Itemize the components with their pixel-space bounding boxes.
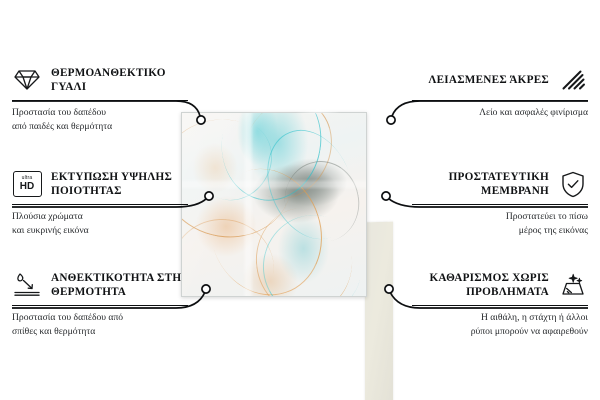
feature-description: Προστασία του δαπέδου από παιδές και θερ… bbox=[12, 106, 188, 133]
feature-easy-cleaning: ΚΑΘΑΡΙΣΜΟΣ ΧΩΡΙΣ ΠΡΟΒΛΗΜΑΤΑ Η αιθάλη, η … bbox=[412, 269, 588, 338]
feature-header: ΛΕΙΑΣΜΕΝΕΣ ΆΚΡΕΣ bbox=[412, 64, 588, 96]
feature-high-quality-print: ultra HD ΕΚΤΥΠΩΣΗ ΥΨΗΛΗΣ ΠΟΙΟΤΗΤΑΣ Πλούσ… bbox=[12, 168, 188, 237]
flame-deflect-icon bbox=[12, 270, 42, 300]
feature-header: ΑΝΘΕΚΤΙΚΟΤΗΤΑ ΣΤΗ ΘΕΡΜΟΤΗΤΑ bbox=[12, 269, 188, 301]
feature-header: ΠΡΟΣΤΑΤΕΥΤΙΚΗ ΜΕΜΒΡΑΝΗ bbox=[412, 168, 588, 200]
feature-description: Λείο και ασφαλές φινίρισμα bbox=[412, 106, 588, 120]
feature-protective-membrane: ΠΡΟΣΤΑΤΕΥΤΙΚΗ ΜΕΜΒΡΑΝΗ Προστατεύει το πί… bbox=[412, 168, 588, 237]
polished-edge-icon bbox=[558, 65, 588, 95]
diamond-icon bbox=[12, 65, 42, 95]
feature-divider bbox=[12, 100, 188, 101]
feature-title: ΕΚΤΥΠΩΣΗ ΥΨΗΛΗΣ ΠΟΙΟΤΗΤΑΣ bbox=[51, 170, 188, 199]
product-image bbox=[181, 110, 393, 300]
feature-divider bbox=[12, 204, 188, 205]
infographic-root: ΘΕΡΜΟΑΝΘΕΚΤΙΚΟ ΓΥΑΛΙ Προστασία του δαπέδ… bbox=[0, 0, 600, 400]
feature-title: ΚΑΘΑΡΙΣΜΟΣ ΧΩΡΙΣ ΠΡΟΒΛΗΜΑΤΑ bbox=[412, 271, 549, 300]
feature-heat-resistant-glass: ΘΕΡΜΟΑΝΘΕΚΤΙΚΟ ΓΥΑΛΙ Προστασία του δαπέδ… bbox=[12, 64, 188, 133]
feature-heat-durability: ΑΝΘΕΚΤΙΚΟΤΗΤΑ ΣΤΗ ΘΕΡΜΟΤΗΤΑ Προστασία το… bbox=[12, 269, 188, 338]
feature-divider bbox=[412, 100, 588, 101]
feature-title: ΠΡΟΣΤΑΤΕΥΤΙΚΗ ΜΕΜΒΡΑΝΗ bbox=[412, 170, 549, 199]
feature-description: Προστασία του δαπέδου από σπίθες και θερ… bbox=[12, 311, 188, 338]
feature-header: ΘΕΡΜΟΑΝΘΕΚΤΙΚΟ ΓΥΑΛΙ bbox=[12, 64, 188, 96]
shield-check-icon bbox=[558, 169, 588, 199]
feature-divider bbox=[12, 305, 188, 306]
product-side-panel bbox=[365, 222, 393, 400]
feature-title: ΛΕΙΑΣΜΕΝΕΣ ΆΚΡΕΣ bbox=[428, 73, 549, 87]
ultra-hd-badge-icon: ultra HD bbox=[12, 169, 42, 199]
feature-divider bbox=[412, 204, 588, 205]
feature-header: ultra HD ΕΚΤΥΠΩΣΗ ΥΨΗΛΗΣ ΠΟΙΟΤΗΤΑΣ bbox=[12, 168, 188, 200]
sparkle-clean-icon bbox=[558, 270, 588, 300]
ultra-hd-main-label: HD bbox=[20, 182, 34, 192]
glass-panel bbox=[181, 112, 367, 297]
feature-polished-edges: ΛΕΙΑΣΜΕΝΕΣ ΆΚΡΕΣ Λείο και ασφαλές φινίρι… bbox=[412, 64, 588, 120]
feature-description: Πλούσια χρώματα και ευκρινής εικόνα bbox=[12, 210, 188, 237]
feature-description: Προστατεύει το πίσω μέρος της εικόνας bbox=[412, 210, 588, 237]
artwork-abstract-marble bbox=[182, 113, 366, 296]
feature-description: Η αιθάλη, η στάχτη ή άλλοι ρύποι μπορούν… bbox=[412, 311, 588, 338]
feature-header: ΚΑΘΑΡΙΣΜΟΣ ΧΩΡΙΣ ΠΡΟΒΛΗΜΑΤΑ bbox=[412, 269, 588, 301]
feature-divider bbox=[412, 305, 588, 306]
feature-title: ΘΕΡΜΟΑΝΘΕΚΤΙΚΟ ΓΥΑΛΙ bbox=[51, 66, 188, 95]
feature-title: ΑΝΘΕΚΤΙΚΟΤΗΤΑ ΣΤΗ ΘΕΡΜΟΤΗΤΑ bbox=[51, 271, 188, 300]
